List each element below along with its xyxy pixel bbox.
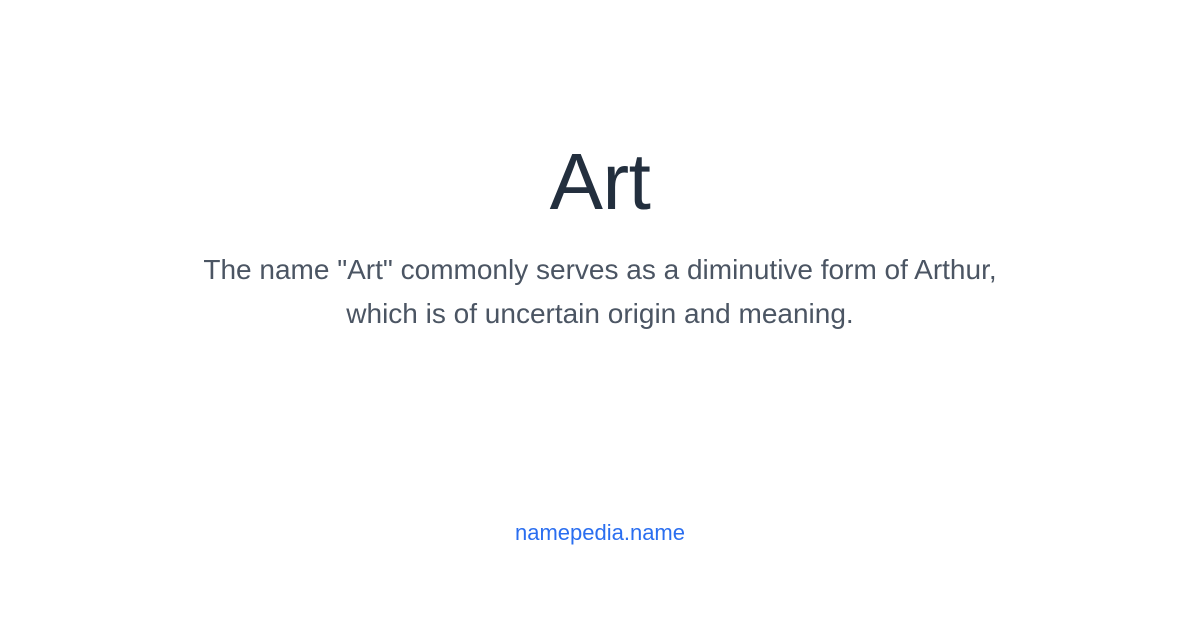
site-link[interactable]: namepedia.name [515,518,685,548]
name-description: The name "Art" commonly serves as a dimi… [160,248,1040,336]
name-info-card: Art The name "Art" commonly serves as a … [0,0,1200,630]
card-footer: namepedia.name [0,470,1200,630]
page-title: Art [550,134,651,230]
card-content: Art The name "Art" commonly serves as a … [0,0,1200,470]
